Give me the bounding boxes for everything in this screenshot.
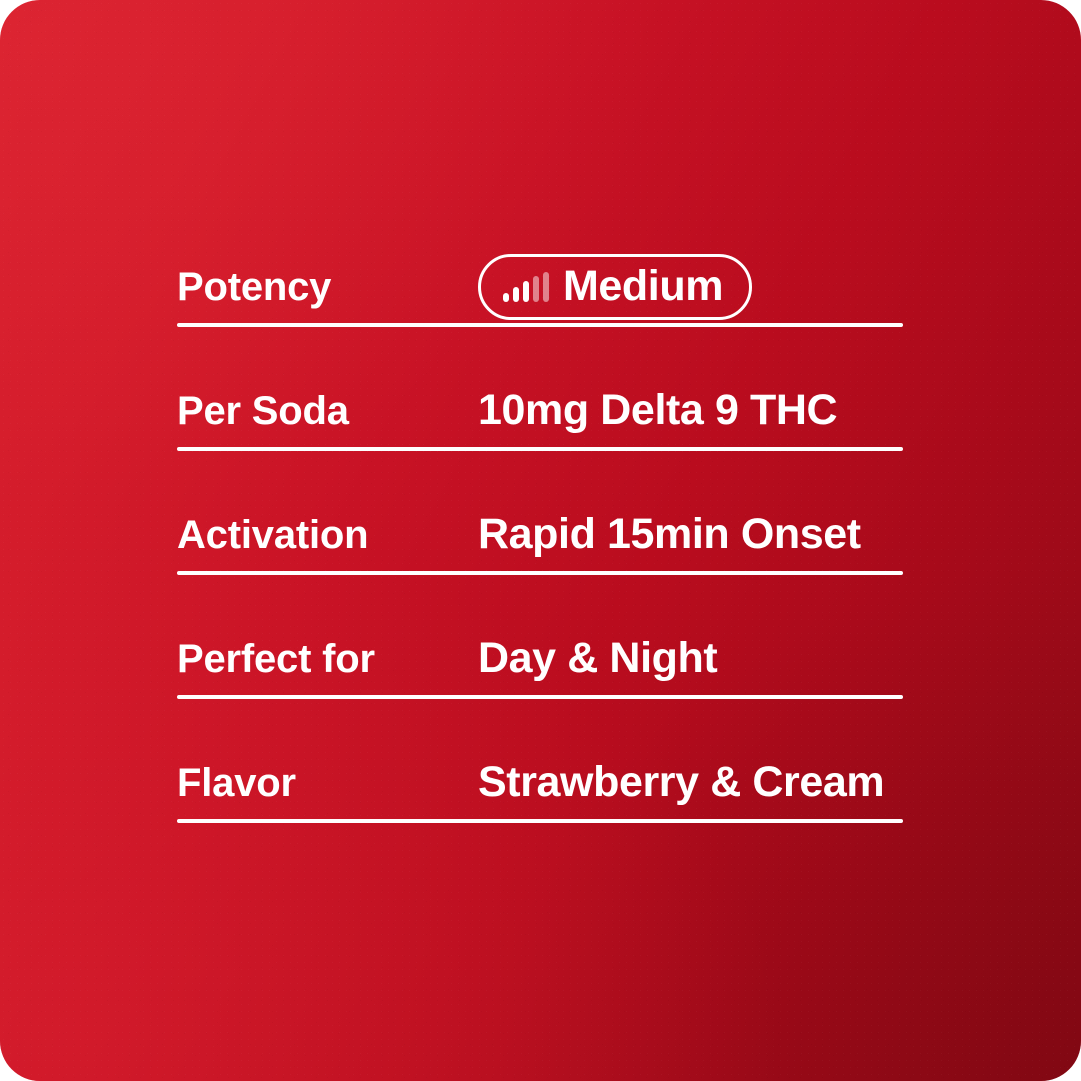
spec-row-flavor: Flavor Strawberry & Cream — [177, 742, 903, 823]
spec-value-activation: Rapid 15min Onset — [478, 513, 903, 556]
product-spec-card: Potency Medium Per Soda 10mg Delta 9 — [0, 0, 1081, 1081]
spec-divider-4 — [177, 695, 903, 699]
spec-row-activation: Activation Rapid 15min Onset — [177, 494, 903, 575]
spec-value-potency: Medium — [478, 254, 903, 320]
potency-level-label: Medium — [563, 265, 723, 308]
spec-row-per-soda: Per Soda 10mg Delta 9 THC — [177, 370, 903, 451]
spec-table: Potency Medium Per Soda 10mg Delta 9 — [177, 246, 903, 823]
potency-badge[interactable]: Medium — [478, 254, 752, 320]
spec-label-per-soda: Per Soda — [177, 391, 478, 431]
spec-divider-1 — [177, 323, 903, 327]
signal-bar-5 — [543, 272, 549, 302]
signal-bars-icon — [503, 272, 549, 302]
spec-divider-5 — [177, 819, 903, 823]
spec-value-flavor: Strawberry & Cream — [478, 761, 903, 804]
signal-bar-1 — [503, 293, 509, 302]
spec-label-flavor: Flavor — [177, 763, 478, 803]
signal-bar-2 — [513, 287, 519, 302]
spec-row-perfect-for: Perfect for Day & Night — [177, 618, 903, 699]
spec-row-potency: Potency Medium — [177, 246, 903, 327]
spec-value-per-soda: 10mg Delta 9 THC — [478, 389, 903, 432]
spec-divider-3 — [177, 571, 903, 575]
signal-bar-3 — [523, 281, 529, 302]
spec-label-perfect-for: Perfect for — [177, 639, 478, 679]
spec-divider-2 — [177, 447, 903, 451]
spec-label-potency: Potency — [177, 267, 478, 307]
spec-value-perfect-for: Day & Night — [478, 637, 903, 680]
signal-bar-4 — [533, 276, 539, 302]
spec-label-activation: Activation — [177, 515, 478, 555]
